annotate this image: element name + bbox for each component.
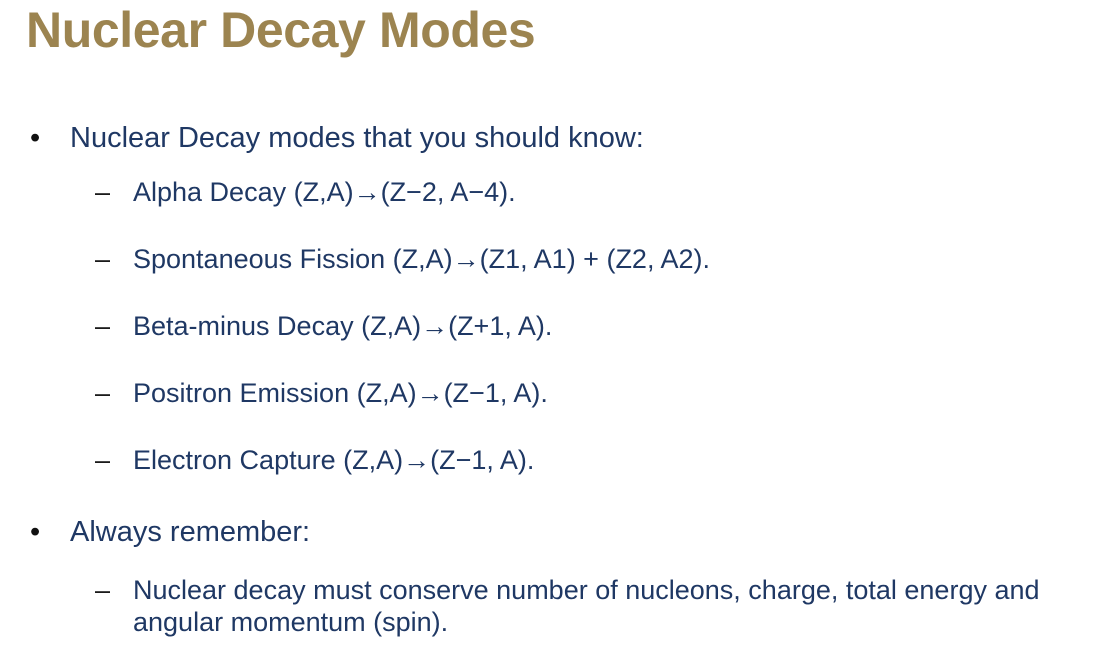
slide-canvas: Nuclear Decay Modes • Nuclear Decay mode…	[0, 0, 1118, 663]
bullet-item-level2: – Electron Capture (Z,A)→(Z−1, A).	[0, 445, 1118, 477]
bullet-dash-icon: –	[95, 177, 110, 209]
bullet-dash-icon: –	[95, 311, 110, 343]
bullet-dash-icon: –	[95, 378, 110, 410]
bullet-text: Alpha Decay (Z,A)→(Z−2, A−4).	[133, 177, 1118, 209]
bullet-text: Positron Emission (Z,A)→(Z−1, A).	[133, 378, 1118, 410]
bullet-dash-icon: –	[95, 445, 110, 477]
bullet-text: Nuclear Decay modes that you should know…	[70, 122, 1118, 156]
bullet-item-level1: • Always remember:	[0, 516, 1118, 550]
bullet-text: Always remember:	[70, 516, 1118, 550]
bullet-item-level2: – Positron Emission (Z,A)→(Z−1, A).	[0, 378, 1118, 410]
bullet-item-level2: – Alpha Decay (Z,A)→(Z−2, A−4).	[0, 177, 1118, 209]
bullet-dash-icon: –	[95, 244, 110, 276]
bullet-text: Spontaneous Fission (Z,A)→(Z1, A1) + (Z2…	[133, 244, 1118, 276]
bullet-dash-icon: –	[95, 575, 110, 607]
bullet-dot-icon: •	[30, 516, 40, 550]
bullet-item-level2: – Spontaneous Fission (Z,A)→(Z1, A1) + (…	[0, 244, 1118, 276]
page-title: Nuclear Decay Modes	[26, 2, 535, 58]
bullet-item-level2: – Beta-minus Decay (Z,A)→(Z+1, A).	[0, 311, 1118, 343]
bullet-text: Electron Capture (Z,A)→(Z−1, A).	[133, 445, 1118, 477]
bullet-item-level1: • Nuclear Decay modes that you should kn…	[0, 122, 1118, 156]
slide-body: • Nuclear Decay modes that you should kn…	[0, 122, 1118, 638]
bullet-text: Nuclear decay must conserve number of nu…	[133, 575, 1104, 638]
bullet-item-level2: – Nuclear decay must conserve number of …	[0, 575, 1118, 638]
bullet-dot-icon: •	[30, 122, 40, 156]
bullet-text: Beta-minus Decay (Z,A)→(Z+1, A).	[133, 311, 1118, 343]
